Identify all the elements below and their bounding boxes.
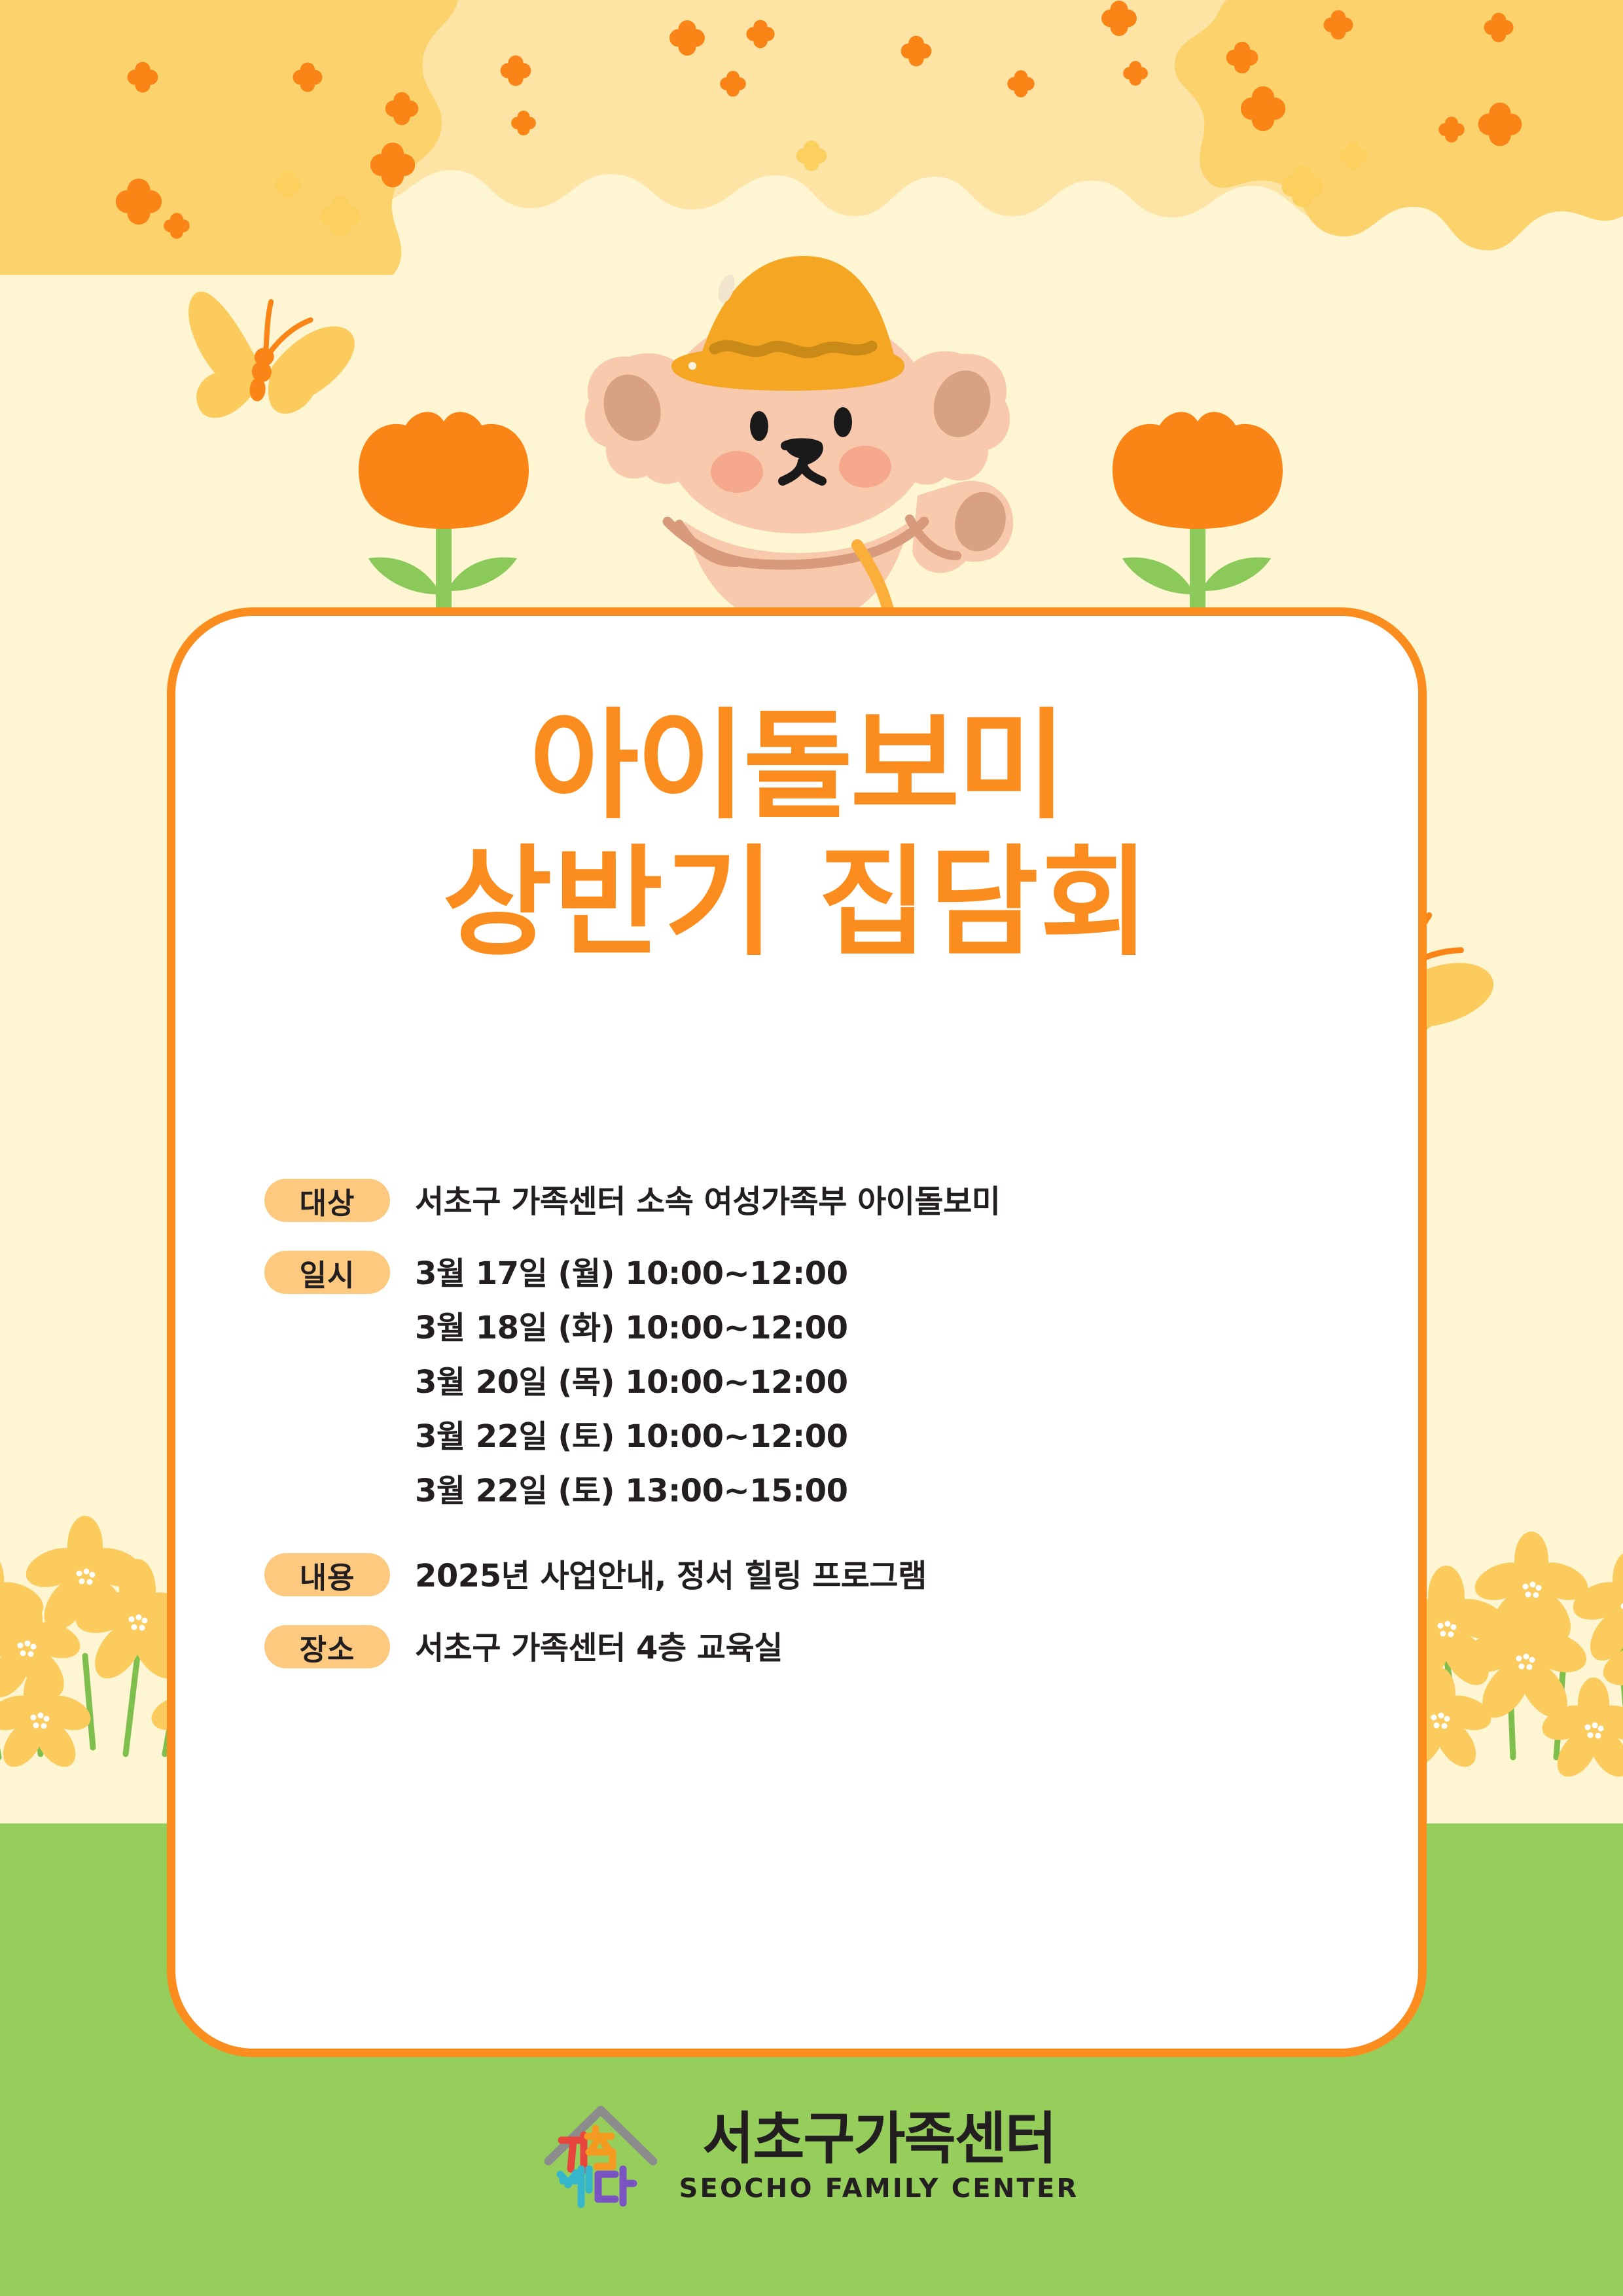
label-pill-schedule: 일시 [264,1251,390,1294]
label-pill-place: 장소 [264,1625,390,1668]
info-row-place: 장소 서초구 가족센터 4층 교육실 [264,1625,1377,1670]
butterfly-icon-top-left [178,270,361,427]
info-row-audience: 대상 서초구 가족센터 소속 여성가족부 아이돌보미 [264,1179,1377,1223]
logo-name-ko: 서초구가족센터 [702,2111,1056,2168]
logo-name-en: SEOCHO FAMILY CENTER [679,2174,1079,2204]
poster-root: 아이돌보미 상반기 집담회 대상 서초구 가족센터 소속 여성가족부 아이돌보미… [0,0,1623,2296]
house-logo-icon [544,2101,657,2214]
tulip-icon-right [1099,398,1296,614]
value-place: 서초구 가족센터 4층 교육실 [415,1626,1377,1670]
main-content-card: 아이돌보미 상반기 집담회 대상 서초구 가족센터 소속 여성가족부 아이돌보미… [167,607,1427,2057]
logo-wordmark: 서초구가족센터 SEOCHO FAMILY CENTER [679,2111,1079,2204]
value-group-content: 2025년 사업안내, 정서 힐링 프로그램 [415,1553,1377,1598]
top-decoration-band [0,0,1623,275]
value-group-place: 서초구 가족센터 4층 교육실 [415,1625,1377,1670]
info-row-content: 내용 2025년 사업안내, 정서 힐링 프로그램 [264,1553,1377,1598]
page-title: 아이돌보미 상반기 집담회 [175,698,1418,972]
value-schedule-1: 3월 17일 (월) 10:00~12:00 [415,1252,1377,1295]
label-pill-audience: 대상 [264,1179,390,1222]
label-pill-content: 내용 [264,1553,390,1596]
value-schedule-4: 3월 22일 (토) 10:00~12:00 [415,1415,1377,1458]
tulip-icon-left [346,398,542,614]
value-schedule-2: 3월 18일 (화) 10:00~12:00 [415,1306,1377,1350]
value-content: 2025년 사업안내, 정서 힐링 프로그램 [415,1554,1377,1598]
value-schedule-3: 3월 20일 (목) 10:00~12:00 [415,1361,1377,1404]
info-list: 대상 서초구 가족센터 소속 여성가족부 아이돌보미 일시 3월 17일 (월)… [264,1179,1377,1670]
bear-character-illustration [569,226,1021,632]
footer-logo: 서초구가족센터 SEOCHO FAMILY CENTER [0,2101,1623,2214]
value-group-schedule: 3월 17일 (월) 10:00~12:00 3월 18일 (화) 10:00~… [415,1251,1377,1513]
value-group-audience: 서초구 가족센터 소속 여성가족부 아이돌보미 [415,1179,1377,1223]
title-line-1: 아이돌보미 [175,698,1418,834]
value-schedule-5: 3월 22일 (토) 13:00~15:00 [415,1469,1377,1513]
title-line-2: 상반기 집담회 [175,834,1418,971]
info-row-schedule: 일시 3월 17일 (월) 10:00~12:00 3월 18일 (화) 10:… [264,1251,1377,1513]
value-audience: 서초구 가족센터 소속 여성가족부 아이돌보미 [415,1180,1377,1223]
